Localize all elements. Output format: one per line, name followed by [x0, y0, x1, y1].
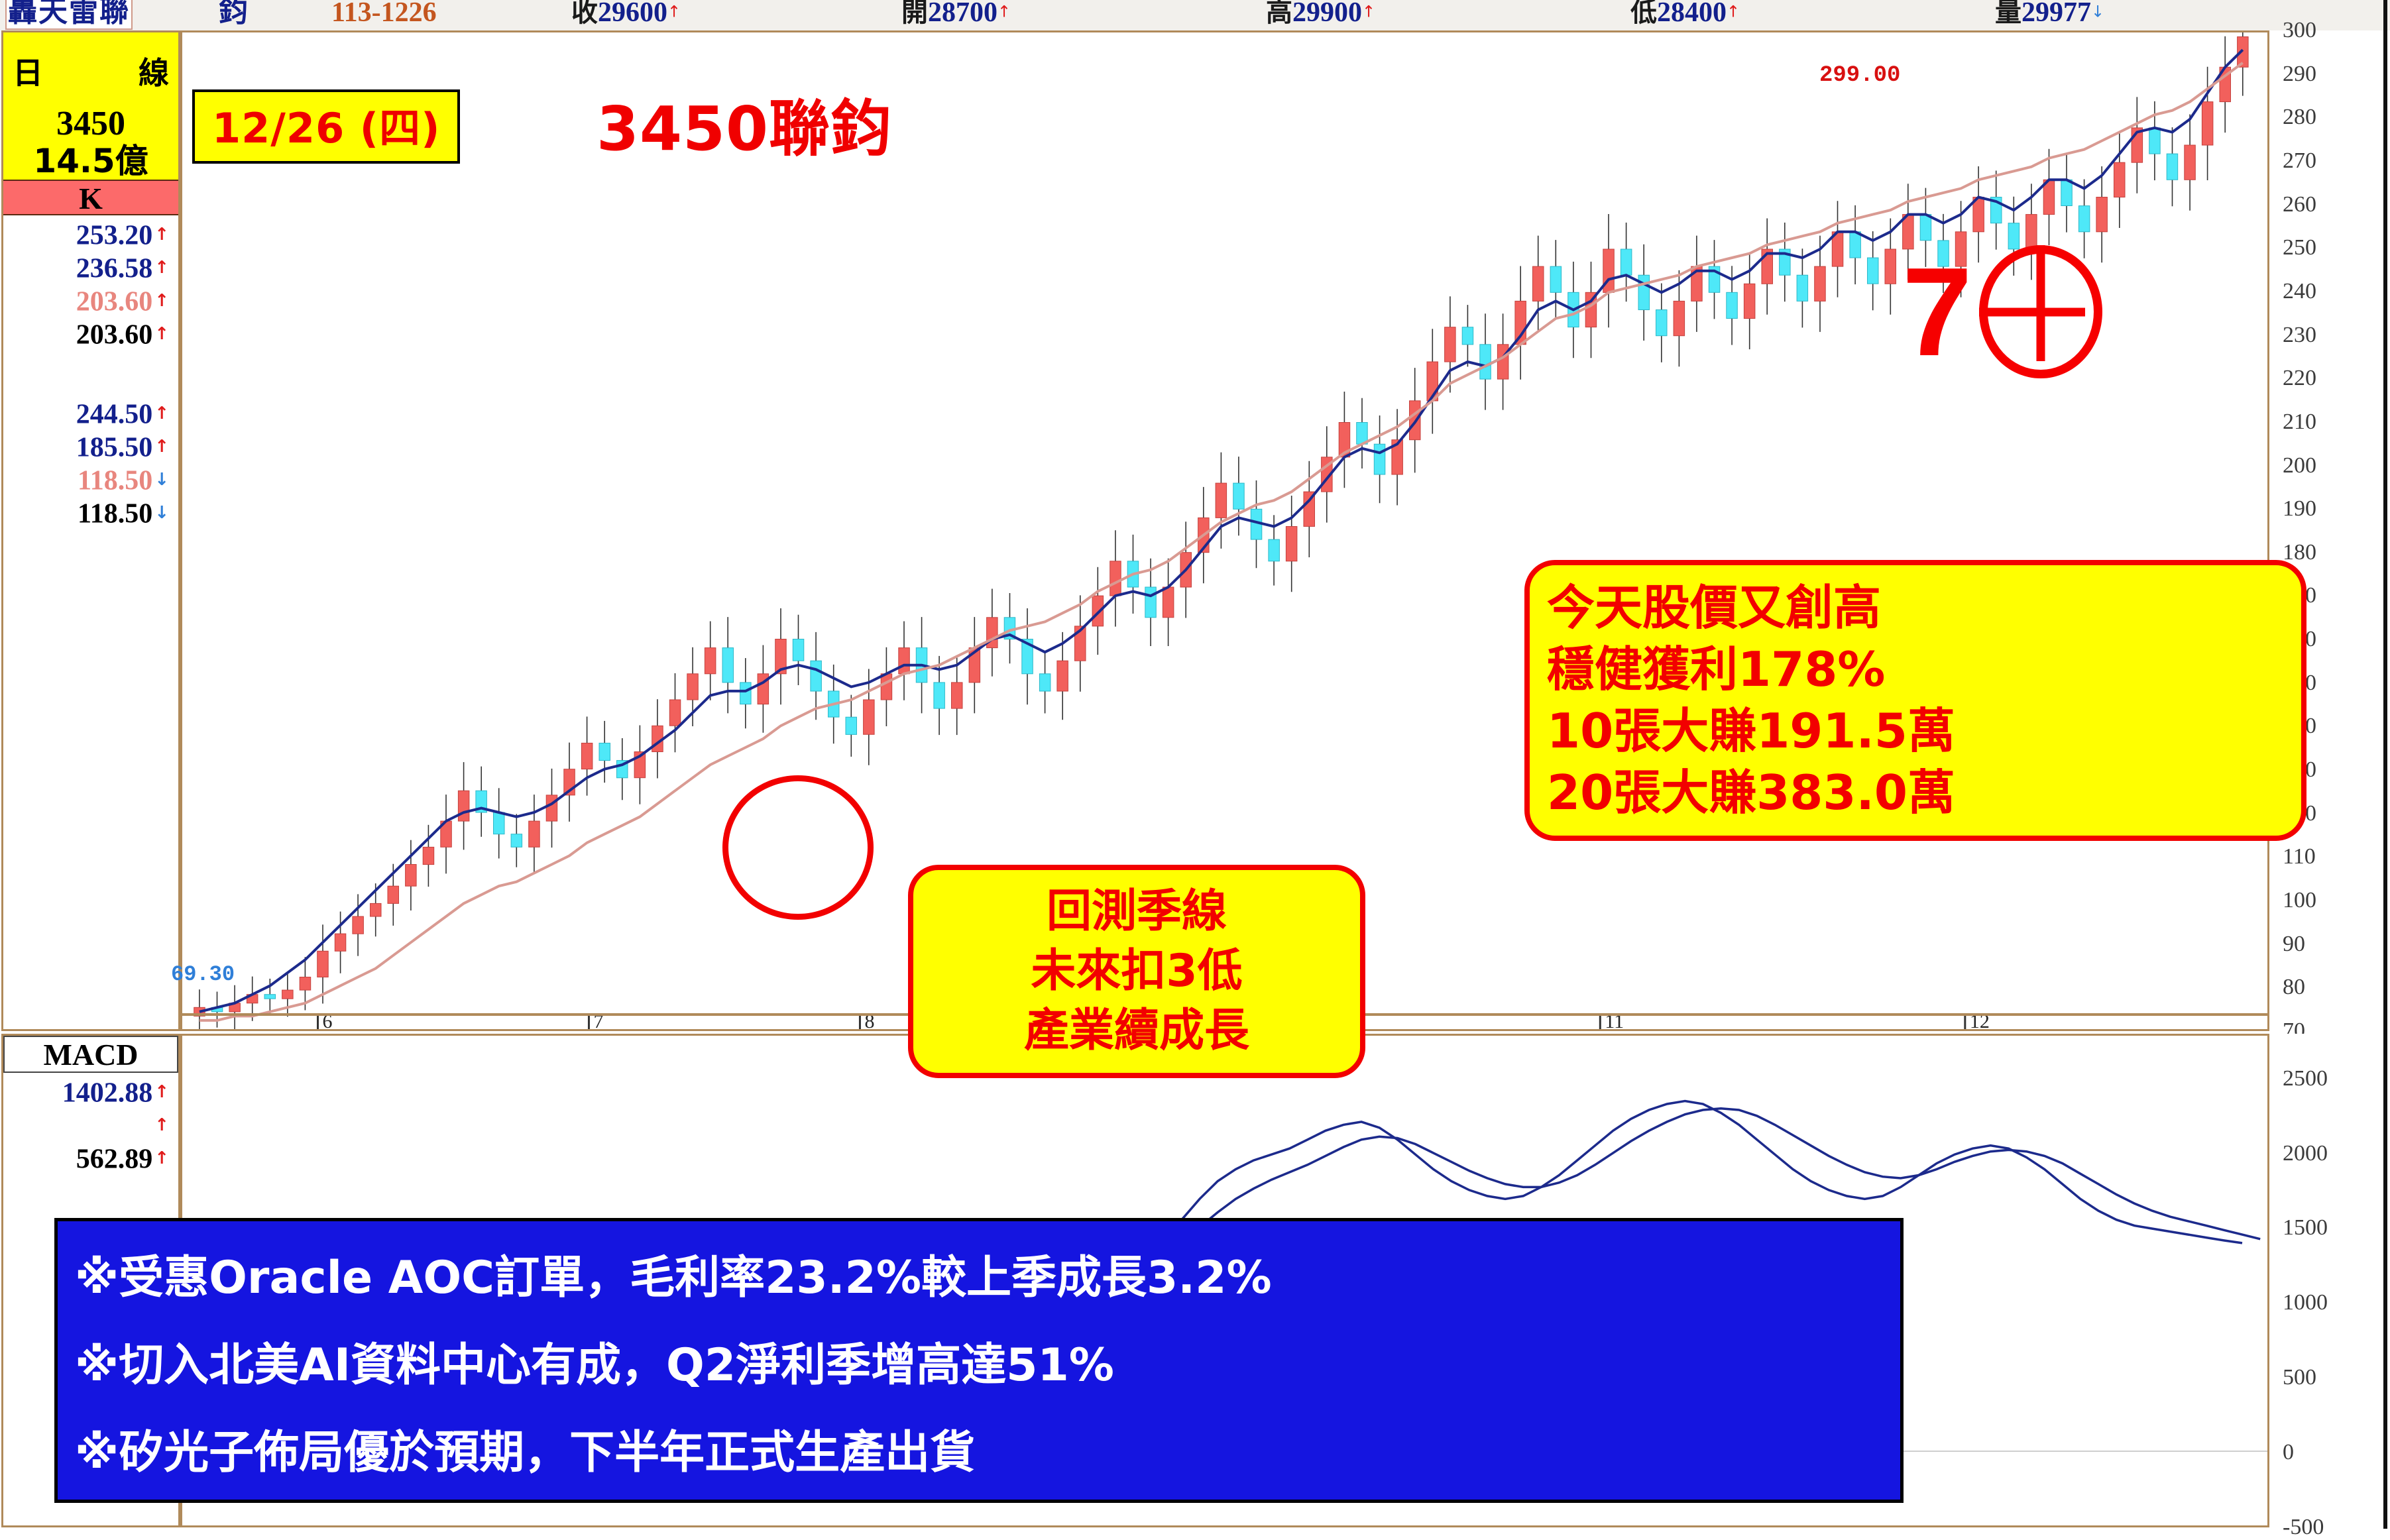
callout-profit-line: 穩健獲利178%: [1547, 639, 2284, 700]
quote-value-close: 29600: [598, 0, 667, 28]
quote-bar: 轟天雷聯 鈞 113-1226 收29600↑ 開28700↑ 高29900↑ …: [0, 0, 2390, 30]
price-axis-tick: 240: [2283, 279, 2316, 304]
quote-value-open: 28700: [928, 0, 997, 28]
price-axis: 3002902802702602502402302202102001901801…: [2272, 30, 2389, 1031]
callout-pullback-line: 回測季線: [931, 882, 1343, 942]
arrow-up-icon: ↑: [154, 404, 169, 423]
indicator-row: 236.58↑: [3, 251, 178, 284]
price-axis-tick: 290: [2283, 62, 2316, 87]
macd-axis-tick: 2500: [2283, 1066, 2328, 1091]
callout-profit-line: 10張大賺191.5萬: [1547, 700, 2284, 762]
arrow-up-icon: ↑: [154, 1082, 169, 1102]
arrow-up-icon: ↑: [154, 258, 169, 278]
quote-label-volume: 量: [1995, 0, 2021, 28]
quote-field-high: 高29900↑: [1266, 0, 1375, 27]
price-axis-tick: 230: [2283, 323, 2316, 348]
macd-axis-tick: -500: [2283, 1515, 2324, 1540]
macd-row: 1402.88↑: [3, 1075, 178, 1109]
volume-shares: 3450: [3, 105, 178, 142]
period-label-left: 日: [13, 49, 43, 93]
high-price-annotation: 299.00: [1819, 63, 1900, 88]
indicator-row: 253.20↑: [3, 218, 178, 251]
indicator-row: 118.50↓: [3, 496, 178, 529]
callout-profit-line: 今天股價又創高: [1547, 577, 2284, 639]
right-border-divider: [2383, 0, 2387, 1529]
quote-value-low: 28400: [1657, 0, 1727, 28]
indicator-row: 118.50↓: [3, 463, 178, 496]
macd-axis-tick: 0: [2283, 1440, 2294, 1465]
price-axis-tick: 90: [2283, 932, 2305, 957]
callout-profit-line: 20張大賺383.0萬: [1547, 762, 2284, 824]
indicator-value: 236.58: [76, 253, 153, 284]
period-selector[interactable]: 日 線: [3, 32, 178, 109]
macd-value-macd: 562.89: [76, 1144, 153, 1174]
quote-field-volume: 量29977↓: [1995, 0, 2104, 27]
date-badge-label: 12/26 (四): [212, 104, 440, 152]
price-axis-tick: 190: [2283, 496, 2316, 522]
price-axis-tick: 220: [2283, 366, 2316, 391]
price-axis-tick: 180: [2283, 540, 2316, 565]
arrow-up-icon: ↑: [667, 3, 681, 21]
quote-label-low: 低: [1630, 0, 1657, 28]
arrow-down-icon: ↓: [154, 503, 169, 523]
left-info-panel: 日 線 3450 14.5億 K 253.20↑ 236.58↑ 203.60↑…: [1, 30, 180, 1031]
arrow-down-icon: ↓: [154, 470, 169, 490]
macd-row: 562.89↑: [3, 1142, 178, 1175]
arrow-down-icon: ↓: [2091, 3, 2104, 21]
price-axis-tick: 100: [2283, 888, 2316, 913]
quote-value-volume: 29977: [2021, 0, 2091, 28]
page-title: 3450聯鈞: [597, 80, 892, 168]
quote-label-close: 收: [571, 0, 598, 28]
indicator-value: 118.50: [78, 498, 152, 529]
price-axis-tick: 280: [2283, 105, 2316, 130]
news-line: ※受惠Oracle AOC訂單，毛利率23.2%較上季成長3.2%: [75, 1235, 1883, 1322]
callout-pullback-line: 產業續成長: [931, 1001, 1343, 1061]
indicator-row-spacer: [3, 351, 178, 397]
indicator-value: 253.20: [76, 220, 153, 250]
stock-name: 轟天雷聯: [5, 0, 133, 27]
indicator-row: 203.60↑: [3, 317, 178, 351]
indicator-value: 185.50: [76, 432, 153, 463]
indicator-title-label: K: [79, 182, 103, 215]
quote-field-open: 開28700↑: [901, 0, 1011, 27]
news-line: ※切入北美AI資料中心有成，Q2淨利季增高達51%: [75, 1322, 1883, 1409]
macd-title-label: MACD: [43, 1038, 138, 1072]
volume-amount: 14.5億: [3, 142, 178, 180]
price-axis-tick: 260: [2283, 192, 2316, 217]
arrow-up-icon: ↑: [1362, 3, 1375, 21]
macd-axis: 25002000150010005000-500: [2272, 1034, 2389, 1527]
crossed-circle-icon: [1979, 245, 2102, 378]
arrow-up-icon: ↑: [154, 1148, 169, 1168]
quote-field-low: 低28400↑: [1630, 0, 1740, 27]
indicator-row: 244.50↑: [3, 397, 178, 430]
quote-value-high: 29900: [1292, 0, 1362, 28]
price-axis-tick: 210: [2283, 410, 2316, 435]
callout-profit: 今天股價又創高 穩健獲利178% 10張大賺191.5萬 20張大賺383.0萬: [1524, 560, 2306, 841]
price-axis-tick: 300: [2283, 18, 2316, 43]
macd-value-dif: 1402.88: [62, 1077, 153, 1108]
stock-name-text: 轟天雷聯: [5, 0, 133, 30]
quote-field-close: 收29600↑: [571, 0, 681, 27]
arrow-up-icon: ↑: [997, 3, 1011, 21]
callout-pullback: 回測季線 未來扣3低 產業續成長: [908, 865, 1365, 1078]
price-axis-tick: 200: [2283, 453, 2316, 478]
macd-title[interactable]: MACD: [3, 1036, 178, 1073]
volume-summary: 3450 14.5億: [3, 105, 178, 182]
price-axis-tick: 110: [2283, 844, 2316, 869]
macd-axis-tick: 2000: [2283, 1141, 2328, 1166]
macd-axis-tick: 1500: [2283, 1215, 2328, 1240]
date-badge: 12/26 (四): [192, 89, 460, 164]
indicator-row: 185.50↑: [3, 430, 178, 463]
news-line: ※矽光子佈局優於預期，下半年正式生產出貨: [75, 1409, 1883, 1497]
news-summary-box: ※受惠Oracle AOC訂單，毛利率23.2%較上季成長3.2% ※切入北美A…: [54, 1218, 1904, 1503]
macd-axis-tick: 1000: [2283, 1290, 2328, 1315]
indicator-row: 203.60↑: [3, 284, 178, 317]
pullback-circle-marker: [722, 775, 874, 920]
arrow-up-icon: ↑: [154, 291, 169, 311]
indicator-value-list: 253.20↑ 236.58↑ 203.60↑ 203.60↑ 244.50↑ …: [3, 218, 178, 529]
price-axis-tick: 80: [2283, 975, 2305, 1000]
quote-label-high: 高: [1266, 0, 1292, 28]
indicator-value: 203.60: [76, 319, 153, 350]
low-price-annotation: 69.30: [171, 962, 235, 987]
arrow-up-icon: ↑: [154, 1115, 169, 1135]
period-label-right: 線: [139, 49, 169, 93]
quote-label-open: 開: [901, 0, 928, 28]
indicator-value: 244.50: [76, 399, 153, 429]
quote-date-range: 113-1226: [331, 0, 437, 27]
indicator-value: 118.50: [78, 465, 152, 496]
arrow-up-icon: ↑: [154, 437, 169, 457]
macd-value-list: 1402.88↑ ↑ 562.89↑: [3, 1075, 178, 1175]
arrow-up-icon: ↑: [154, 225, 169, 245]
stock-name-secondary: 鈞: [219, 0, 248, 27]
seven-circle-mark: 7: [1902, 245, 2102, 378]
arrow-up-icon: ↑: [1727, 3, 1740, 21]
arrow-up-icon: ↑: [154, 324, 169, 344]
seven-digit: 7: [1902, 259, 1972, 365]
macd-axis-tick: 500: [2283, 1365, 2316, 1390]
macd-row: ↑: [3, 1109, 178, 1142]
indicator-title-k[interactable]: K: [3, 180, 178, 215]
price-axis-tick: 270: [2283, 148, 2316, 174]
price-axis-tick: 250: [2283, 235, 2316, 260]
indicator-value: 203.60: [76, 286, 153, 317]
callout-pullback-line: 未來扣3低: [931, 942, 1343, 1001]
